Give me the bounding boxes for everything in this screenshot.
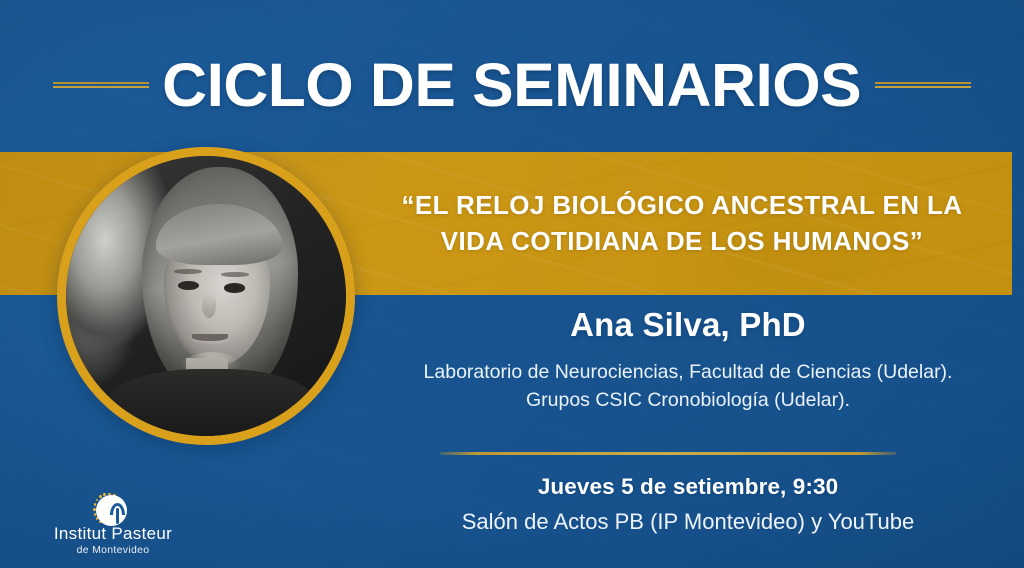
portrait-brow-left xyxy=(174,269,202,273)
seminar-title-line-1: “EL RELOJ BIOLÓGICO ANCESTRAL EN LA xyxy=(401,189,962,222)
seminar-title-text: “EL RELOJ BIOLÓGICO ANCESTRAL EN LA VIDA… xyxy=(352,152,1012,295)
portrait-brow-right xyxy=(221,272,249,276)
logo-name: Institut Pasteur xyxy=(28,525,198,543)
event-details: Jueves 5 de setiembre, 9:30 Salón de Act… xyxy=(352,472,1024,537)
portrait-photo xyxy=(66,156,346,436)
logo-wordmark: Institut Pasteur de Montevideo xyxy=(28,525,198,556)
portrait-eye-right xyxy=(224,283,245,293)
portrait-nose xyxy=(202,293,216,318)
institut-pasteur-logo: Institut Pasteur de Montevideo xyxy=(28,492,198,556)
logo-subtitle: de Montevideo xyxy=(28,544,198,557)
poster-header: CICLO DE SEMINARIOS xyxy=(0,46,1024,124)
logo-white-disc xyxy=(96,495,127,526)
gold-divider xyxy=(440,452,896,455)
gold-rule-right-icon xyxy=(875,81,971,90)
event-location: Salón de Actos PB (IP Montevideo) y YouT… xyxy=(352,508,1024,537)
affiliation-line-1: Laboratorio de Neurociencias, Facultad d… xyxy=(352,358,1024,386)
event-datetime: Jueves 5 de setiembre, 9:30 xyxy=(352,472,1024,501)
page-title: CICLO DE SEMINARIOS xyxy=(163,55,862,116)
portrait-eye-left xyxy=(178,281,199,291)
speaker-portrait xyxy=(57,147,355,445)
speaker-affiliations: Laboratorio de Neurociencias, Facultad d… xyxy=(352,358,1024,415)
logo-figure-shape xyxy=(110,503,125,524)
speaker-block: Ana Silva, PhD Laboratorio de Neurocienc… xyxy=(352,305,1024,414)
affiliation-line-2: Grupos CSIC Cronobiología (Udelar). xyxy=(352,386,1024,414)
seminar-poster: CICLO DE SEMINARIOS “EL RELOJ BIOLÓGICO … xyxy=(0,0,1024,568)
seminar-title-line-2: VIDA COTIDIANA DE LOS HUMANOS” xyxy=(441,225,923,258)
speaker-name: Ana Silva, PhD xyxy=(352,305,1024,345)
gold-rule-left-icon xyxy=(53,81,149,90)
portrait-clothing xyxy=(105,369,318,436)
